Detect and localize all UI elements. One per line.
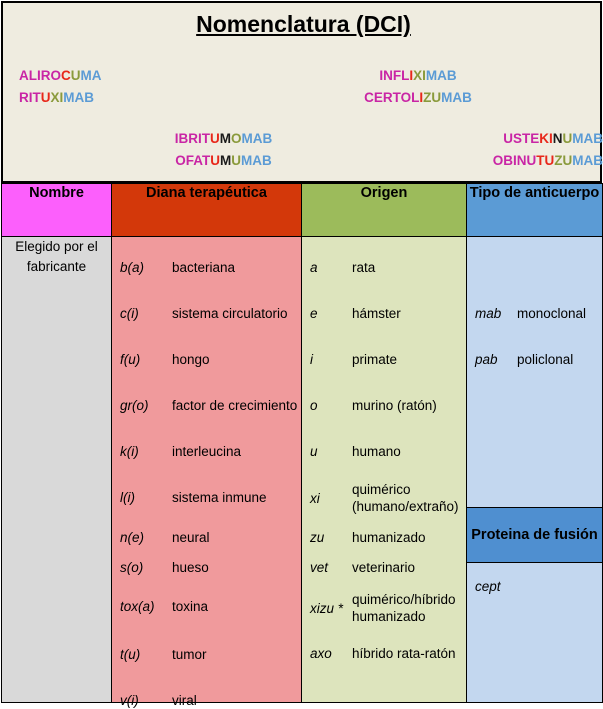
diana-code: f(u) (112, 352, 166, 367)
cell-tipo: mabmonoclonalpabpoliclonalProteina de fu… (467, 237, 603, 703)
origen-code: xizu * (302, 601, 346, 616)
drug-segment-source: ZU (554, 153, 572, 168)
column-header-origen: Origen (302, 184, 467, 237)
tipo-code: pab (467, 352, 511, 367)
origen-description: quimérico (humano/extraño) (346, 481, 466, 515)
origen-entry: uhumano (302, 443, 466, 460)
drug-segment-source: U (71, 68, 81, 83)
drug-segment-target: U (41, 90, 51, 105)
origen-description: primate (346, 351, 397, 368)
nomenclature-table: Nombre Diana terapéutica Origen Tipo de … (1, 183, 603, 703)
drug-segment-prefix: USTE (503, 131, 539, 146)
page-title: Nomenclatura (DCI) (3, 11, 603, 38)
diana-entry: s(o)hueso (112, 559, 301, 576)
drug-name: RITUXIMAB (19, 87, 102, 109)
origen-entry: arata (302, 259, 466, 276)
drug-segment-prefix: ALIRO (19, 68, 61, 83)
diana-code: tox(a) (112, 599, 166, 614)
origen-description: hámster (346, 305, 401, 322)
diana-code: b(a) (112, 260, 166, 275)
drug-group-alirocumab: ALIROCUMARITUXIMAB (19, 65, 102, 109)
origen-code: zu (302, 530, 346, 545)
drug-segment-target: U (210, 153, 220, 168)
origen-entry: vetveterinario (302, 559, 466, 576)
origen-code: i (302, 352, 346, 367)
origen-entry: omurino (ratón) (302, 397, 466, 414)
diana-entry: n(e)neural (112, 529, 301, 546)
drug-segment-source: U (563, 131, 573, 146)
origen-code: e (302, 306, 346, 321)
origen-entry: zuhumanizado (302, 529, 466, 546)
tipo-description: monoclonal (511, 305, 586, 322)
diana-description: factor de crecimiento (166, 397, 297, 414)
diana-description: sistema inmune (166, 489, 267, 506)
diana-description: viral (166, 692, 197, 709)
origen-description: humanizado (346, 529, 426, 546)
diana-entry: v(i)viral (112, 692, 301, 709)
diana-entry: c(i)sistema circulatorio (112, 305, 301, 322)
diana-code: t(u) (112, 647, 166, 662)
drug-name: INFLIXIMAB (343, 65, 493, 87)
drug-segment-source: ZU (423, 90, 441, 105)
tipo-description: policlonal (511, 351, 573, 368)
drug-name: ALIROCUMA (19, 65, 102, 87)
tipo-entry: pabpoliclonal (467, 351, 602, 368)
diana-entry: tox(a)toxina (112, 598, 301, 615)
origen-entry: ehámster (302, 305, 466, 322)
drug-name: CERTOLIZUMAB (343, 87, 493, 109)
diana-entry: f(u)hongo (112, 351, 301, 368)
drug-name: USTEKINUMAB (469, 128, 603, 150)
origen-code: axo (302, 646, 346, 661)
drug-segment-target: C (61, 68, 71, 83)
drug-segment-suffix: MAB (572, 153, 603, 168)
origen-entry: iprimate (302, 351, 466, 368)
diana-code: v(i) (112, 693, 166, 708)
column-header-tipo: Tipo de anticuerpo (467, 184, 603, 237)
banner: Nomenclatura (DCI) ALIROCUMARITUXIMAB IN… (1, 1, 602, 183)
drug-segment-source: XI (51, 90, 64, 105)
origen-description: quimérico/híbrido humanizado (346, 591, 466, 625)
diana-description: tumor (166, 646, 207, 663)
drug-segment-target: TU (536, 153, 554, 168)
drug-segment-suffix: MAB (241, 153, 272, 168)
drug-segment-source: XI (413, 68, 426, 83)
tipo-entry: mabmonoclonal (467, 305, 602, 322)
drug-segment-black: M (220, 153, 231, 168)
table-body-row: Elegido por el fabricante b(a)bacteriana… (2, 237, 603, 703)
diana-description: sistema circulatorio (166, 305, 288, 322)
drug-segment-suffix: MAB (441, 90, 472, 105)
drug-segment-source: O (231, 131, 242, 146)
drug-segment-target: KI (539, 131, 553, 146)
tipo-fusion-code: cept (467, 579, 511, 594)
diana-code: l(i) (112, 490, 166, 505)
subheader-proteina-de-fusion: Proteina de fusión (467, 507, 602, 563)
cell-nombre: Elegido por el fabricante (2, 237, 112, 703)
drug-segment-prefix: OFAT (175, 153, 210, 168)
origen-description: humano (346, 443, 401, 460)
origen-entry: xiquimérico (humano/extraño) (302, 481, 466, 515)
nomenclature-infographic: Nomenclatura (DCI) ALIROCUMARITUXIMAB IN… (0, 0, 603, 704)
drug-group-infliximab: INFLIXIMABCERTOLIZUMAB (343, 65, 493, 109)
diana-code: k(i) (112, 444, 166, 459)
drug-segment-black: N (553, 131, 563, 146)
tipo-code: mab (467, 306, 511, 321)
drug-group-ibritumomab: IBRITUMOMABOFATUMUMAB (151, 128, 296, 172)
origen-code: u (302, 444, 346, 459)
column-header-nombre: Nombre (2, 184, 112, 237)
diana-entry: l(i)sistema inmune (112, 489, 301, 506)
diana-description: toxina (166, 598, 208, 615)
origen-description: rata (346, 259, 375, 276)
drug-group-ustekinumab: USTEKINUMABOBINUTUZUMAB (469, 128, 603, 172)
drug-segment-suffix: MAB (426, 68, 457, 83)
origen-entry: axohíbrido rata-ratón (302, 645, 466, 662)
origen-code: o (302, 398, 346, 413)
cell-origen: arataehámsteriprimateomurino (ratón)uhum… (302, 237, 467, 703)
origen-code: xi (302, 491, 346, 506)
origen-entry: xizu *quimérico/híbrido humanizado (302, 591, 466, 625)
diana-description: hongo (166, 351, 210, 368)
diana-entry: gr(o)factor de crecimiento (112, 397, 301, 414)
origen-description: murino (ratón) (346, 397, 437, 414)
drug-segment-source: U (231, 153, 241, 168)
drug-name: OFATUMUMAB (151, 150, 296, 172)
drug-segment-suffix: MA (81, 68, 102, 83)
drug-segment-prefix: OBINU (493, 153, 537, 168)
column-header-diana: Diana terapéutica (112, 184, 302, 237)
diana-description: neural (166, 529, 210, 546)
diana-code: gr(o) (112, 398, 166, 413)
table-header-row: Nombre Diana terapéutica Origen Tipo de … (2, 184, 603, 237)
diana-description: interleucina (166, 443, 241, 460)
drug-segment-prefix: IBRIT (175, 131, 210, 146)
diana-description: hueso (166, 559, 209, 576)
drug-segment-suffix: MAB (242, 131, 273, 146)
origen-code: a (302, 260, 346, 275)
drug-name: IBRITUMOMAB (151, 128, 296, 150)
drug-segment-suffix: MAB (63, 90, 94, 105)
drug-segment-prefix: CERTOL (364, 90, 419, 105)
drug-segment-suffix: MAB (572, 131, 603, 146)
diana-entry: k(i)interleucina (112, 443, 301, 460)
drug-name: OBINUTUZUMAB (469, 150, 603, 172)
drug-segment-black: M (220, 131, 231, 146)
drug-segment-prefix: INFL (379, 68, 409, 83)
tipo-fusion-entry: cept (467, 579, 602, 594)
diana-code: s(o) (112, 560, 166, 575)
diana-code: c(i) (112, 306, 166, 321)
origen-code: vet (302, 560, 346, 575)
origen-description: híbrido rata-ratón (346, 645, 456, 662)
diana-entry: b(a)bacteriana (112, 259, 301, 276)
drug-segment-target: U (210, 131, 220, 146)
origen-description: veterinario (346, 559, 415, 576)
diana-code: n(e) (112, 530, 166, 545)
diana-description: bacteriana (166, 259, 235, 276)
drug-segment-prefix: RIT (19, 90, 41, 105)
diana-entry: t(u)tumor (112, 646, 301, 663)
cell-diana: b(a)bacterianac(i)sistema circulatoriof(… (112, 237, 302, 703)
